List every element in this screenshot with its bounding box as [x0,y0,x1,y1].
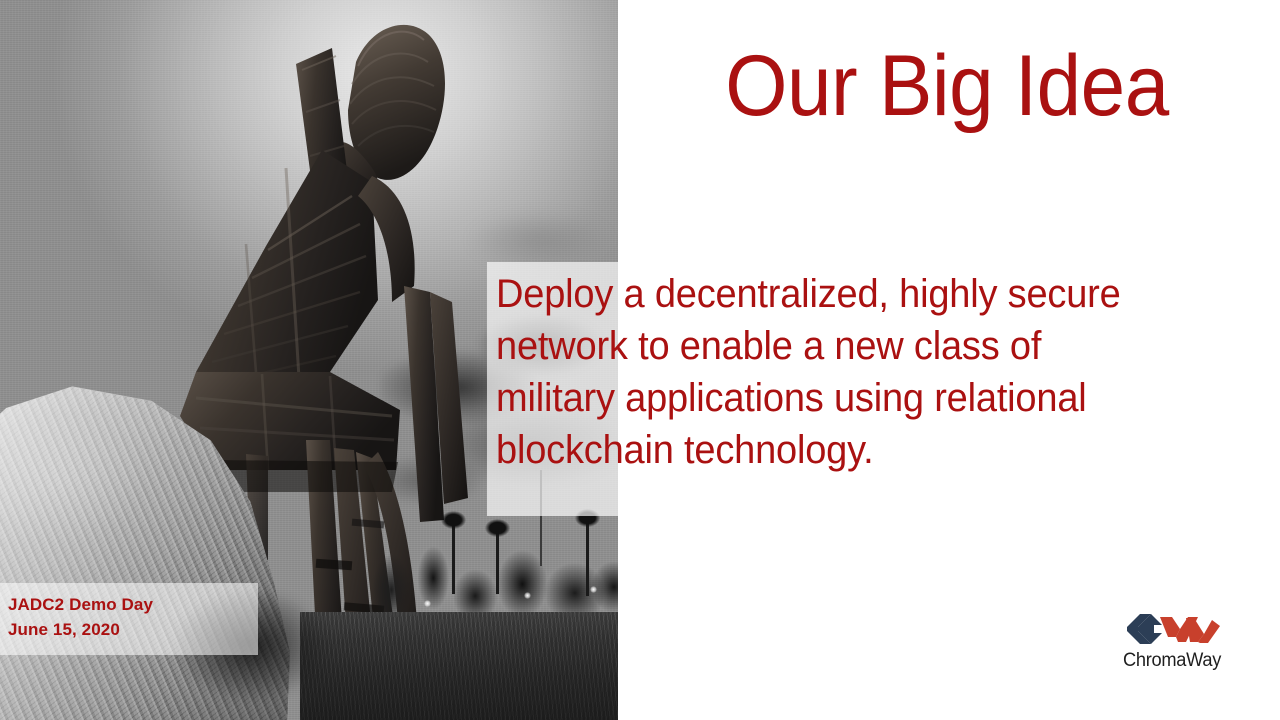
chromaway-wordmark: ChromaWay [1114,650,1229,672]
body-line: blockchain technology. [496,424,1199,476]
chromaway-logo: ChromaWay [1112,612,1232,678]
photo-palm-tree [496,528,499,594]
body-line: network to enable a new class of [496,320,1199,372]
photo-palm-tree [586,518,589,596]
body-line: Deploy a decentralized, highly secure [496,268,1199,320]
footer-date: June 15, 2020 [8,617,258,642]
photo-light-glow [590,586,597,593]
photo-light-glow [524,592,531,599]
page-title: Our Big Idea [645,34,1250,138]
photo-light-glow [424,600,431,607]
slide-canvas: Our Big Idea Deploy a decentralized, hig… [0,0,1280,720]
slide-body-text: Deploy a decentralized, highly secure ne… [496,268,1199,476]
chromaway-logo-icon [1124,612,1220,646]
body-line: military applications using relational [496,372,1199,424]
footer-caption: JADC2 Demo Day June 15, 2020 [8,592,258,642]
footer-event-name: JADC2 Demo Day [8,592,258,617]
photo-palm-tree [452,520,455,594]
